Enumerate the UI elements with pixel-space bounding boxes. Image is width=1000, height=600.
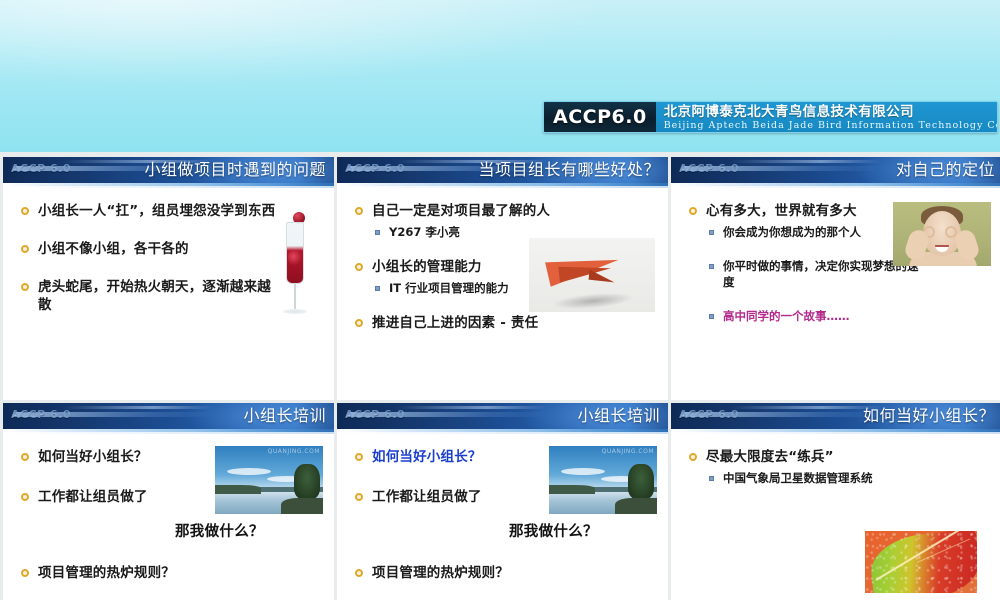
sub-bullet-item: 你会成为你想成为的那个人 — [687, 224, 927, 240]
bullet-item: 推进自己上进的因素 - 责任 — [353, 314, 593, 332]
bullet-list: 如何当好小组长？ 工作都让组员做了 项目管理的热炉规则？ — [19, 448, 209, 586]
bullet-item: 尽最大限度去“练兵” — [687, 448, 947, 466]
slide-body: 心有多大，世界就有多大 你会成为你想成为的那个人 你平时做的事情，决定你实现梦想… — [671, 188, 1000, 400]
bullet-item: 心有多大，世界就有多大 — [687, 202, 927, 220]
glass-stem — [294, 284, 296, 310]
accp-watermark: ACCP 6.0 — [345, 162, 405, 175]
accp-watermark: ACCP 6.0 — [11, 162, 71, 175]
slide-body: 小组长一人“扛”，组员埋怨没学到东西 小组不像小组，各干各的 虎头蛇尾，开始热火… — [3, 188, 334, 400]
slide-freetext: 那我做什么？ — [509, 520, 598, 541]
leaf-photo — [865, 531, 977, 593]
sub-bullet-item: 高中同学的一个故事…… — [687, 308, 927, 324]
paper-plane-photo — [529, 238, 655, 312]
slide-title: 小组长培训 — [577, 405, 660, 427]
slide-title-bar: ACCP 6.0 如何当好小组长？ — [671, 403, 1000, 429]
slide-grid: ACCP 6.0 小组做项目时遇到的问题 小组长一人“扛”，组员埋怨没学到东西 … — [0, 152, 1000, 600]
cloud — [561, 468, 605, 475]
brand-bar: ACCP6.0 北京阿博泰克北大青鸟信息技术有限公司 Beijing Aptec… — [543, 101, 998, 133]
plane-fin — [589, 270, 616, 283]
company-name-block: 北京阿博泰克北大青鸟信息技术有限公司 Beijing Aptech Beida … — [656, 102, 998, 132]
slide-title: 小组长培训 — [243, 405, 326, 427]
photo-watermark: QUANJING.COM — [602, 448, 654, 455]
accp-watermark: ACCP 6.0 — [679, 162, 739, 175]
bullet-list: 如何当好小组长？ 工作都让组员做了 项目管理的热炉规则？ — [353, 448, 543, 586]
slide-thumbnail-5[interactable]: ACCP 6.0 小组长培训 如何当好小组长？ 工作都让组员做了 项目管理的热炉… — [337, 403, 668, 600]
slide-thumbnail-4[interactable]: ACCP 6.0 小组长培训 如何当好小组长？ 工作都让组员做了 项目管理的热炉… — [3, 403, 334, 600]
top-banner: ACCP6.0 北京阿博泰克北大青鸟信息技术有限公司 Beijing Aptec… — [0, 0, 1000, 152]
lake-landscape-photo: QUANJING.COM — [215, 446, 323, 514]
accp-logo-label: ACCP6.0 — [544, 102, 656, 132]
sub-bullet-item: 中国气象局卫星数据管理系统 — [687, 470, 947, 486]
bullet-list: 小组长一人“扛”，组员埋怨没学到东西 小组不像小组，各干各的 虎头蛇尾，开始热火… — [19, 202, 284, 318]
bullet-item: 项目管理的热炉规则？ — [353, 564, 543, 582]
bullet-list: 心有多大，世界就有多大 你会成为你想成为的那个人 你平时做的事情，决定你实现梦想… — [687, 202, 927, 328]
bullet-list: 尽最大限度去“练兵” 中国气象局卫星数据管理系统 — [687, 448, 947, 490]
bullet-item: 项目管理的热炉规则？ — [19, 564, 209, 582]
glass-foot — [283, 309, 307, 314]
bullet-item: 小组长一人“扛”，组员埋怨没学到东西 — [19, 202, 284, 220]
tree — [294, 464, 320, 499]
liquid-splash — [288, 250, 302, 266]
photo-watermark: QUANJING.COM — [268, 448, 320, 455]
smiling-woman-photo — [893, 202, 991, 266]
accp-watermark: ACCP 6.0 — [11, 408, 71, 421]
bullet-item: 工作都让组员做了 — [353, 488, 543, 506]
slide-title-bar: ACCP 6.0 小组长培训 — [337, 403, 668, 429]
slide-thumbnail-1[interactable]: ACCP 6.0 小组做项目时遇到的问题 小组长一人“扛”，组员埋怨没学到东西 … — [3, 157, 334, 400]
left-bank — [215, 485, 261, 493]
slide-thumbnail-2[interactable]: ACCP 6.0 当项目组长有哪些好处？ 自己一定是对项目最了解的人 Y267 … — [337, 157, 668, 400]
bullet-item: 工作都让组员做了 — [19, 488, 209, 506]
slide-freetext: 那我做什么？ — [175, 520, 264, 541]
champagne-flute-photo — [275, 204, 315, 324]
slide-thumbnail-page: ACCP6.0 北京阿博泰克北大青鸟信息技术有限公司 Beijing Aptec… — [0, 0, 1000, 600]
accp-watermark: ACCP 6.0 — [679, 408, 739, 421]
slide-body: 自己一定是对项目最了解的人 Y267 李小亮 小组长的管理能力 IT 行业项目管… — [337, 188, 668, 400]
slide-title: 如何当好小组长？ — [863, 405, 995, 427]
tree — [628, 464, 654, 499]
slide-title-bar: ACCP 6.0 对自己的定位 — [671, 157, 1000, 183]
company-name-english: Beijing Aptech Beida Jade Bird Informati… — [664, 120, 998, 132]
plane-shadow — [553, 291, 634, 312]
slide-title-bar: ACCP 6.0 当项目组长有哪些好处？ — [337, 157, 668, 183]
slide-thumbnail-3[interactable]: ACCP 6.0 对自己的定位 心有多大，世界就有多大 你会成为你想成为的那个人… — [671, 157, 1000, 400]
accp-watermark: ACCP 6.0 — [345, 408, 405, 421]
slide-body: 如何当好小组长？ 工作都让组员做了 项目管理的热炉规则？ QUANJING.CO… — [3, 434, 334, 600]
slide-thumbnail-6[interactable]: ACCP 6.0 如何当好小组长？ 尽最大限度去“练兵” 中国气象局卫星数据管理… — [671, 403, 1000, 600]
slide-body: 尽最大限度去“练兵” 中国气象局卫星数据管理系统 — [671, 434, 1000, 600]
slide-title: 当项目组长有哪些好处？ — [478, 159, 660, 181]
slide-title: 对自己的定位 — [896, 159, 995, 181]
water-droplets — [865, 531, 977, 593]
bullet-item: 如何当好小组长？ — [353, 448, 543, 466]
bullet-item: 虎头蛇尾，开始热火朝天，逐渐越来越散 — [19, 278, 284, 314]
slide-body: 如何当好小组长？ 工作都让组员做了 项目管理的热炉规则？ QUANJING.CO… — [337, 434, 668, 600]
slide-title: 小组做项目时遇到的问题 — [144, 159, 326, 181]
cloud — [227, 468, 271, 475]
bullet-item: 小组不像小组，各干各的 — [19, 240, 284, 258]
slide-title-bar: ACCP 6.0 小组做项目时遇到的问题 — [3, 157, 334, 183]
company-name-chinese: 北京阿博泰克北大青鸟信息技术有限公司 — [664, 105, 998, 120]
right-bank — [615, 498, 657, 514]
slide-title-bar: ACCP 6.0 小组长培训 — [3, 403, 334, 429]
bullet-item: 自己一定是对项目最了解的人 — [353, 202, 593, 220]
sub-bullet-item: 你平时做的事情，决定你实现梦想的速度 — [687, 258, 927, 290]
lake-landscape-photo: QUANJING.COM — [549, 446, 657, 514]
right-bank — [281, 498, 323, 514]
left-bank — [549, 485, 595, 493]
bullet-item: 如何当好小组长？ — [19, 448, 209, 466]
